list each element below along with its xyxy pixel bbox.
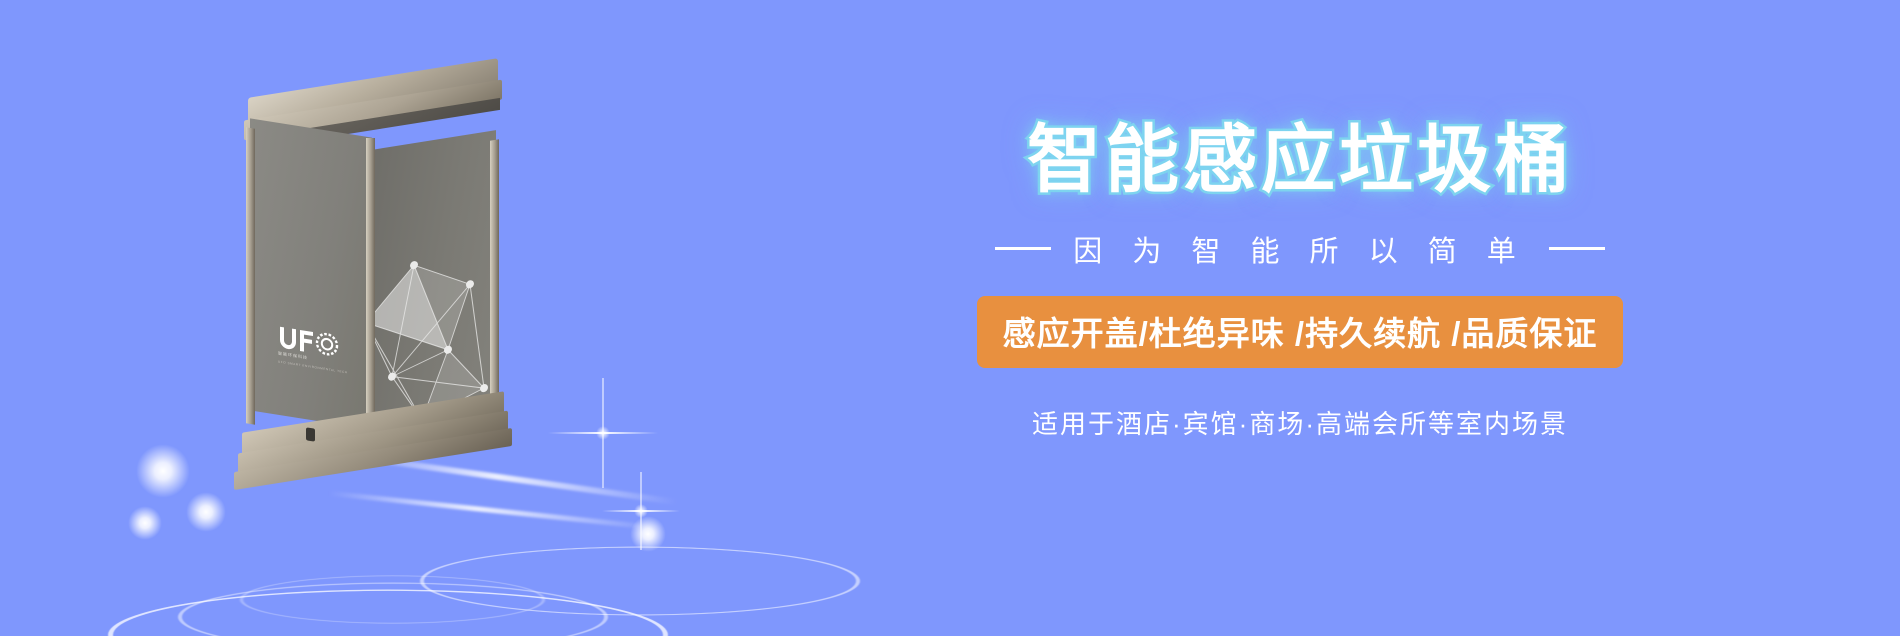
sparkle-star-large xyxy=(548,378,658,488)
ripple-ring-outer xyxy=(108,590,668,636)
ripple-ring-middle xyxy=(178,583,608,636)
product-promo-banner: 智能环保科技 UFO SMART ENVIRONMENTAL TECH 智能感应… xyxy=(0,0,1900,636)
ring-glow-a xyxy=(136,444,190,498)
bin-face-left xyxy=(250,118,372,429)
tagline: 因 为 智 能 所 以 简 单 xyxy=(1073,228,1526,270)
headline: 智能感应垃圾桶 xyxy=(880,120,1720,200)
bin-edge-center xyxy=(366,138,375,438)
rule-right-icon xyxy=(1549,247,1605,250)
usage-scenes: 适用于酒店·宾馆·商场·高端会所等室内场景 xyxy=(880,404,1720,441)
smart-trash-bin: 智能环保科技 UFO SMART ENVIRONMENTAL TECH xyxy=(240,60,500,440)
feature-badge: 感应开盖/杜绝异味 /持久续航 /品质保证 xyxy=(977,296,1624,368)
ring-glow-d xyxy=(630,516,666,552)
promo-copy-block: 智能感应垃圾桶 因 为 智 能 所 以 简 单 感应开盖/杜绝异味 /持久续航 … xyxy=(880,120,1720,441)
tagline-row: 因 为 智 能 所 以 简 单 xyxy=(880,228,1720,270)
bin-edge-left xyxy=(246,127,255,424)
ring-glow-c xyxy=(128,506,162,540)
bin-face-right xyxy=(372,130,496,440)
bin-sensor-icon xyxy=(306,427,315,441)
product-scene: 智能环保科技 UFO SMART ENVIRONMENTAL TECH xyxy=(90,40,810,600)
light-streak-lower xyxy=(329,491,658,530)
bin-edge-right xyxy=(490,139,499,432)
rule-left-icon xyxy=(995,247,1051,250)
ring-glow-b xyxy=(186,492,226,532)
ripple-ring-right xyxy=(420,547,860,616)
sparkle-star-small xyxy=(602,472,680,550)
ripple-ring-inner xyxy=(240,575,545,623)
